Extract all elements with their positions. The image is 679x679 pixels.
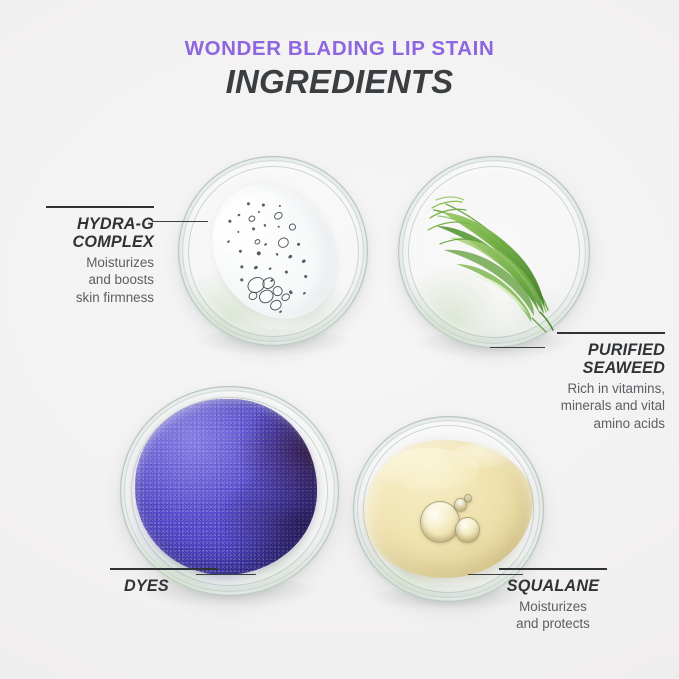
bubble xyxy=(276,235,291,249)
speck xyxy=(256,250,261,255)
callout-hydra-g-complex: HYDRA-G COMPLEX Moisturizes and boosts s… xyxy=(46,206,154,306)
speck xyxy=(264,243,267,246)
petri-dish-purified-seaweed xyxy=(398,156,590,348)
petri-dish-hydra-g-complex xyxy=(178,156,368,346)
ingredient-name: PURIFIED SEAWEED xyxy=(535,341,665,377)
ingredient-description: Moisturizes and boosts skin firmness xyxy=(46,254,154,305)
speck xyxy=(288,290,292,294)
callout-squalane: SQUALANE Moisturizes and protects xyxy=(487,568,619,632)
ingredients-infographic: WONDER BLADING LIP STAIN INGREDIENTS xyxy=(0,0,679,679)
speck xyxy=(297,242,301,246)
speck xyxy=(240,264,245,269)
dish-inner-lip xyxy=(131,397,328,586)
ingredient-description: Moisturizes and protects xyxy=(487,598,619,632)
speck xyxy=(254,265,259,270)
leader-line-hydra-g-complex xyxy=(152,221,208,222)
callout-dyes: DYES xyxy=(110,568,230,595)
ingredient-name: DYES xyxy=(124,577,230,595)
petri-dish-dyes xyxy=(120,386,339,596)
speck xyxy=(275,252,278,255)
speck xyxy=(279,310,283,314)
page-title: INGREDIENTS xyxy=(0,64,679,100)
callout-purified-seaweed: PURIFIED SEAWEED Rich in vitamins, miner… xyxy=(535,332,665,432)
callout-rule xyxy=(557,332,665,334)
callout-rule xyxy=(110,568,218,570)
callout-rule xyxy=(499,568,607,570)
seaweed-sample xyxy=(398,156,590,348)
title-block: WONDER BLADING LIP STAIN INGREDIENTS xyxy=(0,38,679,100)
ingredient-name: SQUALANE xyxy=(487,577,619,595)
ingredient-name: HYDRA-G COMPLEX xyxy=(46,215,154,251)
bubble xyxy=(288,222,297,231)
ingredient-description: Rich in vitamins, minerals and vital ami… xyxy=(535,380,665,431)
speck xyxy=(284,269,289,274)
speck xyxy=(240,278,244,282)
callout-rule xyxy=(46,206,154,208)
speck xyxy=(288,254,293,259)
speck xyxy=(303,291,306,294)
product-subtitle: WONDER BLADING LIP STAIN xyxy=(0,38,679,61)
speck xyxy=(268,266,272,270)
speck xyxy=(302,259,306,263)
speck xyxy=(303,274,307,278)
